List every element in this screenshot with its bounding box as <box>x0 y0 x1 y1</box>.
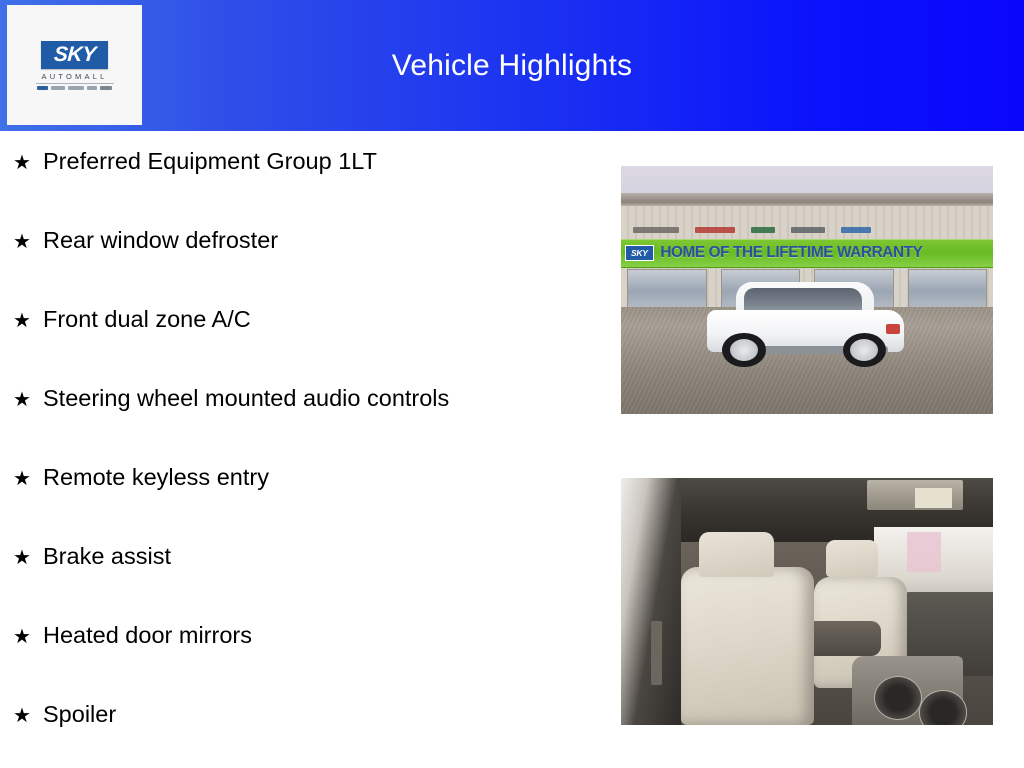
logo-inner: SKY AUTOMALL <box>7 41 142 90</box>
banner-sky-badge: SKY <box>625 245 654 261</box>
window-pane <box>908 269 988 309</box>
seatbelt <box>651 621 662 685</box>
list-item-label: Remote keyless entry <box>43 466 269 490</box>
dodge-mark-icon <box>51 86 65 90</box>
sky-mark-icon <box>100 86 112 90</box>
suv-rear-wheel <box>843 333 886 367</box>
list-item: ★ Front dual zone A/C <box>13 308 603 387</box>
cup-holder <box>874 676 922 720</box>
star-icon: ★ <box>13 548 43 568</box>
warranty-banner: SKY HOME OF THE LIFETIME WARRANTY <box>621 239 993 268</box>
vehicle-highlights-slide: Vehicle Highlights SKY AUTOMALL ★ Prefer… <box>0 0 1024 768</box>
window-sticker <box>907 532 940 572</box>
dodge-sign-icon <box>695 227 735 233</box>
star-icon: ★ <box>13 469 43 489</box>
suv-taillight <box>886 324 900 334</box>
logo-brand-marks <box>37 86 112 90</box>
cup-holder <box>919 690 967 725</box>
list-item-label: Spoiler <box>43 703 116 727</box>
list-item-label: Front dual zone A/C <box>43 308 251 332</box>
list-item-label: Brake assist <box>43 545 171 569</box>
star-icon: ★ <box>13 390 43 410</box>
suv-front-wheel <box>722 333 765 367</box>
list-item-label: Steering wheel mounted audio controls <box>43 387 449 411</box>
driver-headrest <box>699 532 773 576</box>
visor-label <box>915 488 952 508</box>
suv-vehicle <box>707 285 904 367</box>
star-icon: ★ <box>13 311 43 331</box>
window-pane <box>627 269 707 309</box>
highlights-list: ★ Preferred Equipment Group 1LT ★ Rear w… <box>13 150 603 768</box>
jeep-mark-icon <box>68 86 84 90</box>
list-item: ★ Remote keyless entry <box>13 466 603 545</box>
jeep-sign-icon <box>751 227 775 233</box>
sky-sign-icon <box>841 227 871 233</box>
dealership-brand-signs <box>621 222 993 238</box>
slide-header: Vehicle Highlights <box>0 0 1024 131</box>
logo-divider <box>36 83 114 84</box>
vehicle-interior-photo <box>621 478 993 725</box>
dealer-logo: SKY AUTOMALL <box>7 5 142 125</box>
chrysler-sign-icon <box>633 227 679 233</box>
list-item-label: Heated door mirrors <box>43 624 252 648</box>
vehicle-exterior-photo: SKY HOME OF THE LIFETIME WARRANTY <box>621 166 993 414</box>
passenger-headrest <box>826 540 878 577</box>
banner-text: HOME OF THE LIFETIME WARRANTY <box>660 244 922 262</box>
ram-mark-icon <box>87 86 97 90</box>
list-item: ★ Steering wheel mounted audio controls <box>13 387 603 466</box>
list-item-label: Preferred Equipment Group 1LT <box>43 150 377 174</box>
list-item: ★ Spoiler <box>13 703 603 768</box>
door-pillar <box>621 478 681 725</box>
list-item: ★ Rear window defroster <box>13 229 603 308</box>
list-item: ★ Brake assist <box>13 545 603 624</box>
driver-seat <box>681 567 815 725</box>
list-item: ★ Heated door mirrors <box>13 624 603 703</box>
star-icon: ★ <box>13 153 43 173</box>
star-icon: ★ <box>13 706 43 726</box>
list-item: ★ Preferred Equipment Group 1LT <box>13 150 603 229</box>
star-icon: ★ <box>13 627 43 647</box>
chrysler-mark-icon <box>37 86 48 90</box>
logo-sky-badge: SKY <box>41 41 109 69</box>
logo-automall-text: AUTOMALL <box>42 72 108 81</box>
star-icon: ★ <box>13 232 43 252</box>
logo-sky-text: SKY <box>53 44 96 65</box>
list-item-label: Rear window defroster <box>43 229 278 253</box>
ram-sign-icon <box>791 227 825 233</box>
page-title: Vehicle Highlights <box>0 0 1024 131</box>
